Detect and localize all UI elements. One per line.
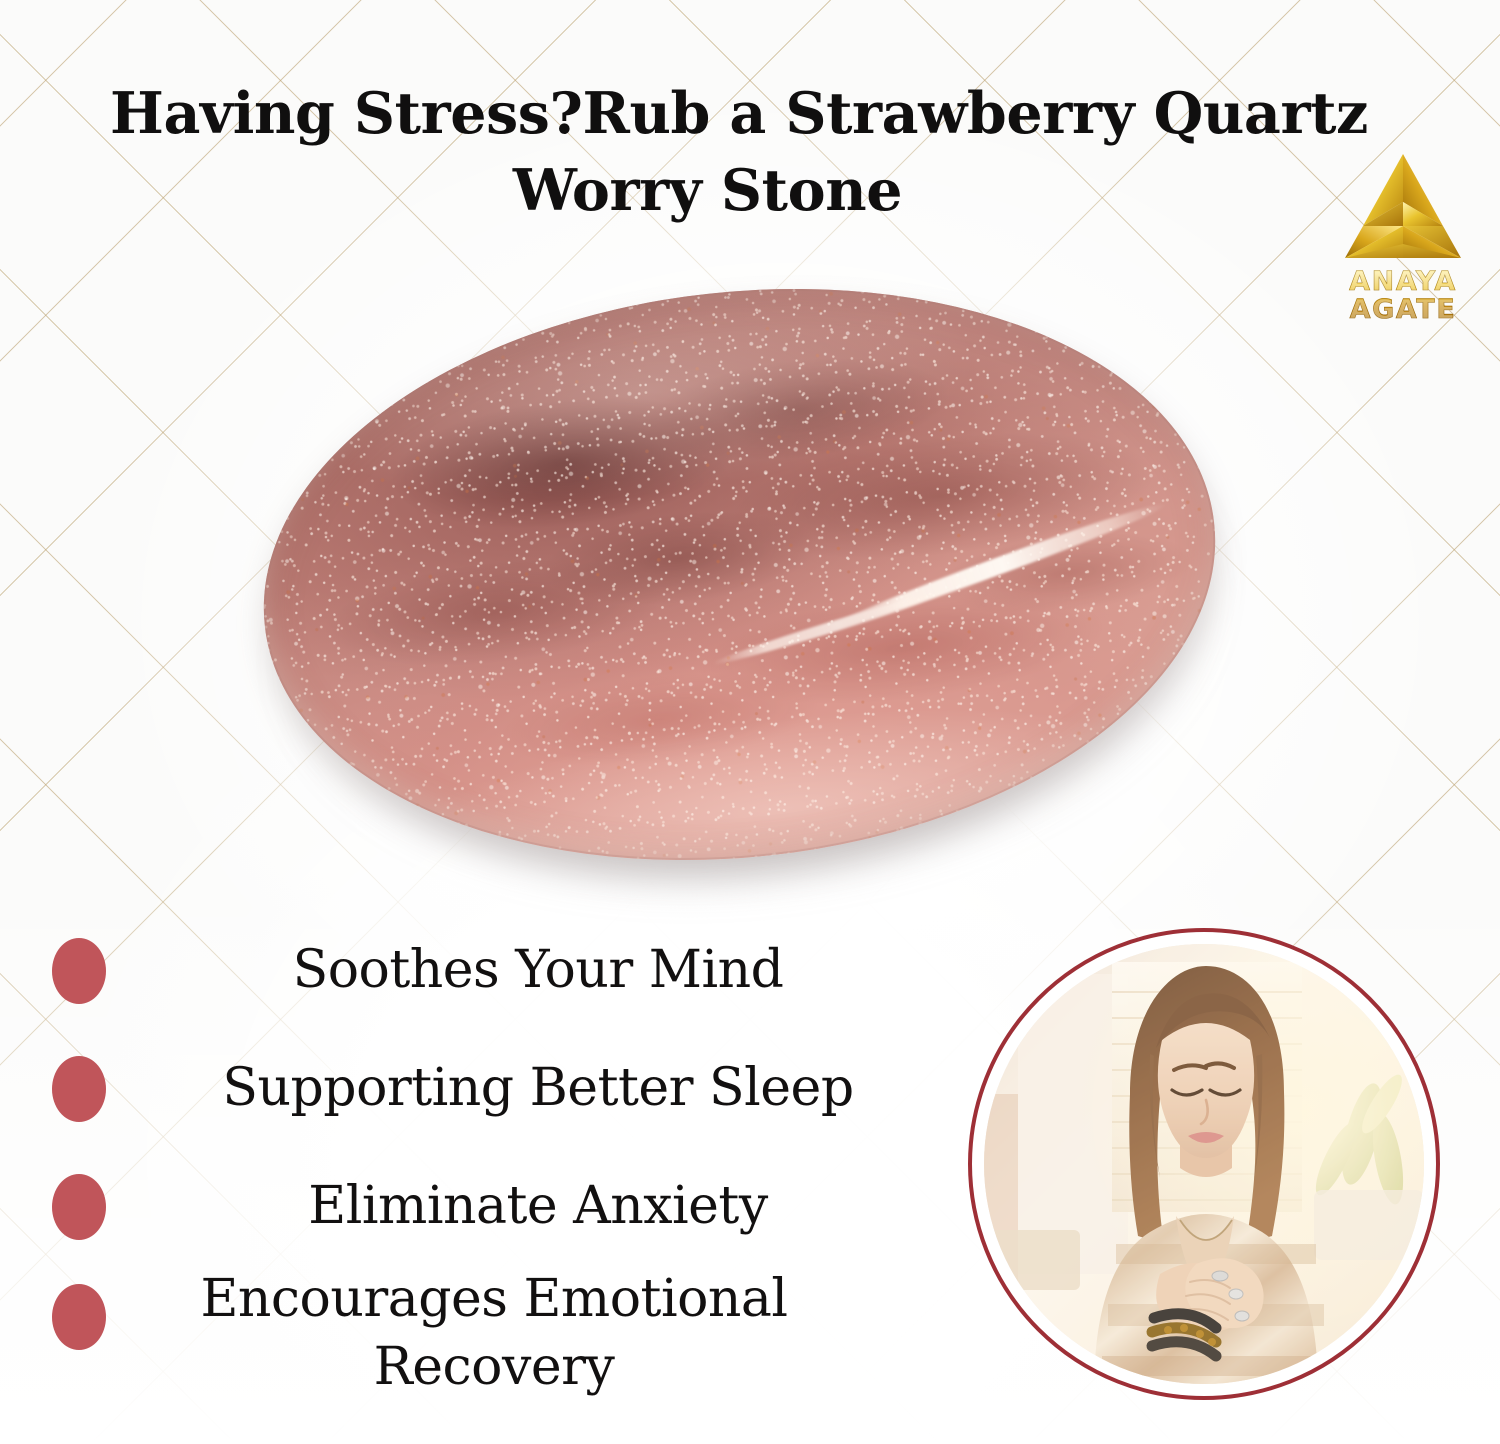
brand-name-line-2: AGATE <box>1300 296 1500 324</box>
product-image: Polished oval strawberry quartz worry st… <box>262 292 1224 867</box>
lifestyle-photo <box>984 944 1424 1384</box>
product-infographic: Having Stress?Rub a Strawberry Quartz Wo… <box>0 0 1500 1444</box>
list-item: Supporting Better Sleep <box>52 1030 932 1148</box>
bullet-dot-icon <box>52 1284 106 1350</box>
list-item: Soothes Your Mind <box>52 912 932 1030</box>
benefit-label: Supporting Better Sleep <box>144 1055 932 1123</box>
bullet-dot-icon <box>52 938 106 1004</box>
lifestyle-photo-frame: Woman with eyes closed resting both hand… <box>968 928 1440 1400</box>
bullet-dot-icon <box>52 1056 106 1122</box>
page-title: Having Stress?Rub a Strawberry Quartz Wo… <box>110 74 1305 232</box>
benefit-label: Soothes Your Mind <box>144 937 932 1005</box>
gold-triangle-logo-icon <box>1300 148 1500 266</box>
benefit-label: Eliminate Anxiety <box>144 1173 932 1241</box>
list-item: Eliminate Anxiety <box>52 1148 932 1266</box>
brand-name-line-1: ANAYA <box>1300 268 1500 296</box>
brand-name: ANAYA AGATE <box>1300 268 1500 324</box>
headline-line-1: Having Stress?Rub a Strawberry Quartz <box>110 74 1305 155</box>
bullet-dot-icon <box>52 1174 106 1240</box>
brand-logo: ANAYA AGATE <box>1300 148 1500 326</box>
lifestyle-photo-alt: Woman with eyes closed resting both hand… <box>984 1384 985 1385</box>
benefit-label: Encourages Emotional Recovery <box>144 1266 844 1401</box>
list-item: Encourages Emotional Recovery <box>52 1266 932 1416</box>
product-image-alt: Polished oval strawberry quartz worry st… <box>262 292 263 293</box>
headline-line-2: Worry Stone <box>110 151 1305 232</box>
benefits-list: Soothes Your Mind Supporting Better Slee… <box>52 912 932 1416</box>
strawberry-quartz-stone <box>234 242 1244 907</box>
